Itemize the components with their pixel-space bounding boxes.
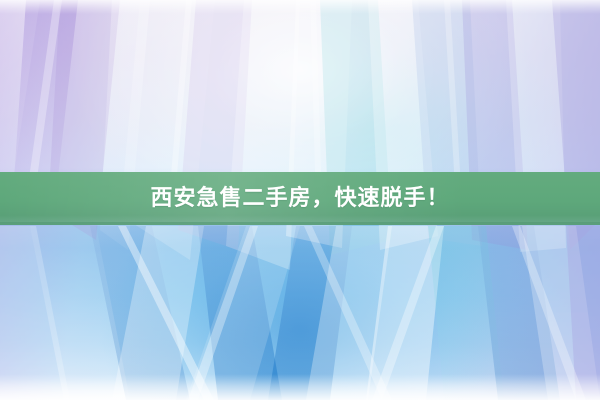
headline-band: 西安急售二手房，快速脱手！ bbox=[0, 172, 600, 225]
headline-text: 西安急售二手房，快速脱手！ bbox=[150, 188, 449, 210]
promo-banner: 西安急售二手房，快速脱手！ bbox=[0, 0, 600, 400]
